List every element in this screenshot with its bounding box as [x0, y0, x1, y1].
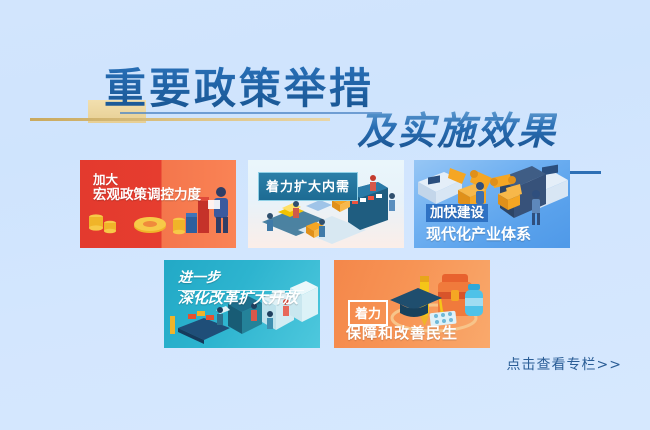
coin-ring-icon: [134, 217, 166, 233]
card-5-line-1: 着力: [355, 307, 381, 322]
card-1-line-2: 宏观政策调控力度: [93, 187, 201, 203]
card-1-line-1: 加大: [93, 172, 118, 187]
person-icon: [208, 187, 228, 233]
card-2-line-1: 着力扩大内需: [266, 180, 350, 195]
view-column-link[interactable]: 点击查看专栏>>: [507, 354, 622, 374]
container-icon: [170, 316, 175, 334]
card-4-label: 进一步 深化改革扩大开放: [178, 270, 298, 307]
policy-card-macro-policy[interactable]: 加大 宏观政策调控力度: [80, 160, 236, 248]
policy-card-livelihood[interactable]: 着力 保障和改善民生: [334, 260, 490, 348]
policy-card-expand-demand[interactable]: 着力扩大内需: [248, 160, 404, 248]
card-3-line-2: 现代化产业体系: [426, 225, 531, 243]
card-1-label: 加大 宏观政策调控力度: [93, 172, 201, 204]
card-3-label: 加快建设 现代化产业体系: [426, 204, 531, 244]
banner-title-block: 重要政策举措 及实施效果: [0, 55, 650, 150]
coin-stack-icon: [89, 214, 116, 233]
card-4-line-2: 深化改革扩大开放: [178, 289, 298, 307]
card-3-line-1: 加快建设: [426, 204, 488, 222]
policy-card-modern-industry[interactable]: 加快建设 现代化产业体系: [414, 160, 570, 248]
policy-card-reform-opening[interactable]: 进一步 深化改革扩大开放: [164, 260, 320, 348]
title-line-1: 重要政策举措: [104, 55, 374, 116]
gold-underline-rule: [30, 118, 330, 121]
card-2-label: 着力扩大内需: [258, 172, 358, 201]
policy-measures-banner: 重要政策举措 及实施效果: [0, 0, 650, 430]
title-line-2: 及实施效果: [357, 100, 557, 155]
card-4-line-1: 进一步: [178, 270, 220, 286]
card-5-line-2: 保障和改善民生: [346, 322, 458, 343]
